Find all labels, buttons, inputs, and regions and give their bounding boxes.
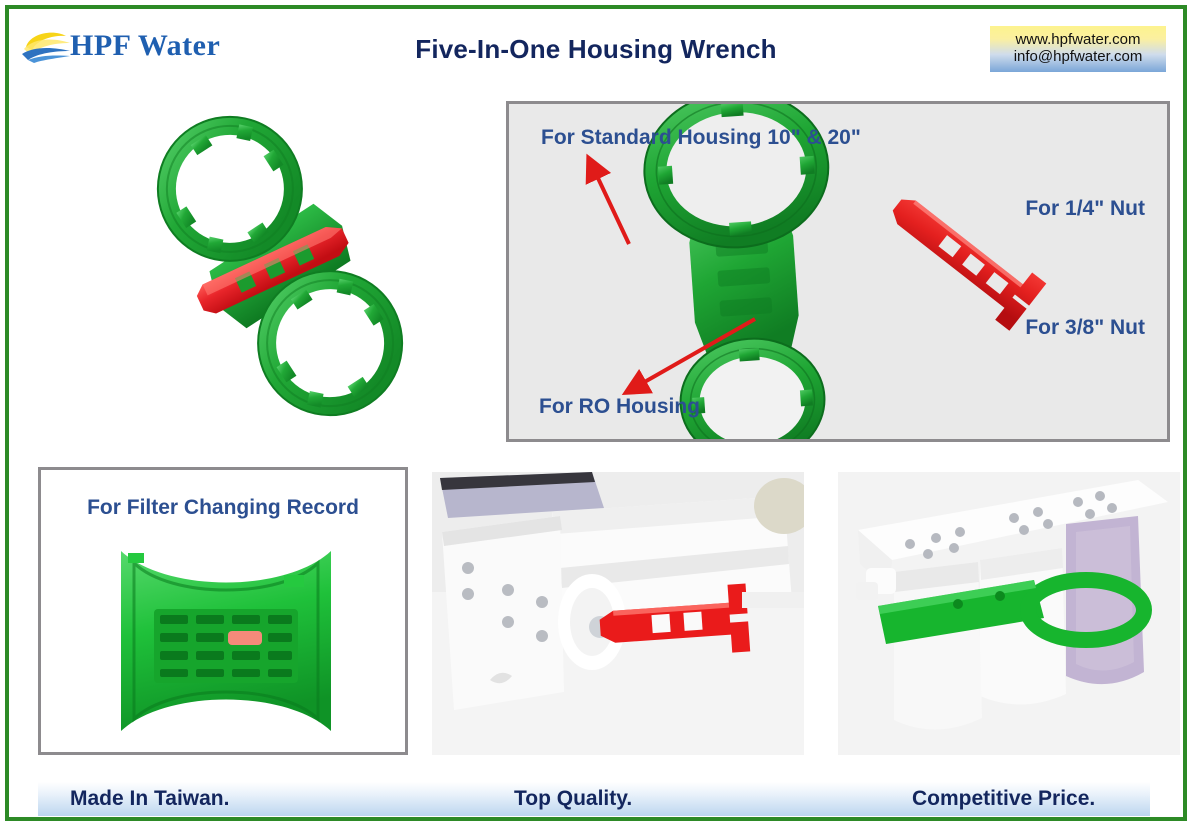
- hero-product-photo: [110, 98, 450, 438]
- contact-email[interactable]: info@hpfwater.com: [1014, 49, 1143, 66]
- footer-item-made-in-taiwan: Made In Taiwan.: [70, 787, 229, 811]
- filter-record-photo: [41, 536, 408, 746]
- catalog-page: HPF Water Five-In-One Housing Wrench www…: [0, 0, 1192, 826]
- filter-record-title: For Filter Changing Record: [41, 496, 405, 520]
- record-marker: [228, 631, 262, 645]
- photo-three-stage-system: [838, 472, 1180, 755]
- annotated-product-panel: For Standard Housing 10" & 20" For RO Ho…: [506, 101, 1170, 442]
- label-three-eighth-nut: For 3/8" Nut: [1025, 316, 1145, 340]
- label-ro-housing: For RO Housing: [539, 395, 700, 419]
- footer-item-top-quality: Top Quality.: [514, 787, 632, 811]
- footer-bar: Made In Taiwan. Top Quality. Competitive…: [38, 782, 1150, 816]
- photo-ro-housing-in-use: [432, 472, 804, 755]
- footer-item-competitive-price: Competitive Price.: [912, 787, 1095, 811]
- label-standard-housing: For Standard Housing 10" & 20": [541, 126, 861, 150]
- contact-box[interactable]: www.hpfwater.com info@hpfwater.com: [990, 26, 1166, 72]
- contact-website[interactable]: www.hpfwater.com: [1015, 32, 1140, 49]
- label-quarter-nut: For 1/4" Nut: [1025, 197, 1145, 221]
- page-header: HPF Water Five-In-One Housing Wrench www…: [12, 12, 1180, 84]
- wrench-illustration: [110, 98, 450, 438]
- annotated-wrench-photo: [509, 104, 1167, 439]
- filter-record-panel: For Filter Changing Record: [38, 467, 408, 755]
